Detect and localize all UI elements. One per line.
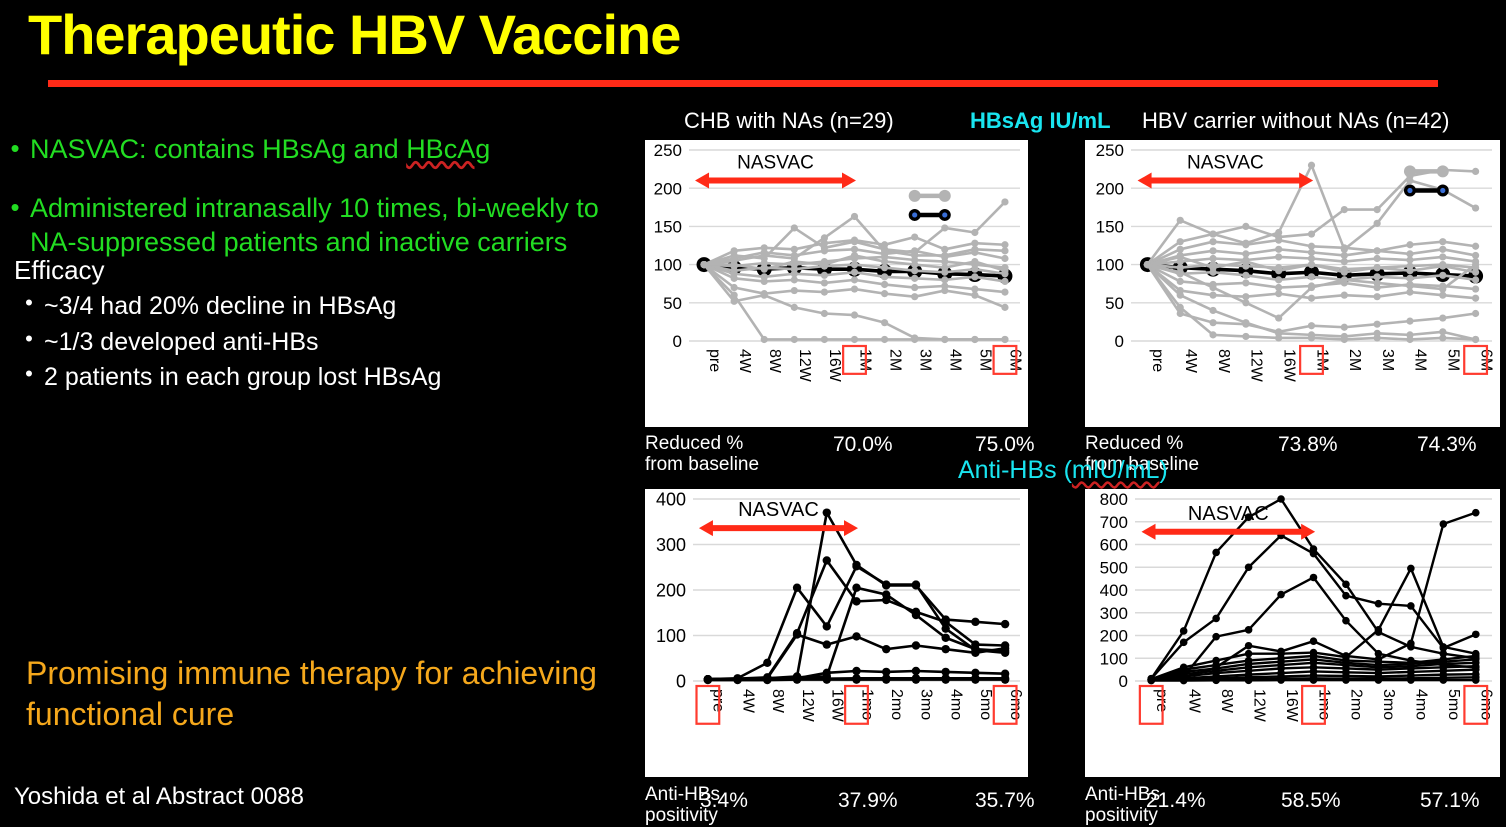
reduced-pct-left-6m: 75.0% xyxy=(975,433,1035,457)
svg-text:700: 700 xyxy=(1100,513,1128,532)
svg-text:4M: 4M xyxy=(947,349,964,371)
efficacy-heading: Efficacy xyxy=(14,255,654,286)
chart-hbsag-carrier-without-nas: 050100150200250NASVACpre4W8W12W16W1M2M3M… xyxy=(1085,140,1500,427)
svg-text:400: 400 xyxy=(1100,581,1128,600)
svg-text:4W: 4W xyxy=(739,689,756,714)
svg-text:600: 600 xyxy=(1100,536,1128,555)
page-title: Therapeutic HBV Vaccine xyxy=(28,6,680,65)
reduced-pct-right-6m: 74.3% xyxy=(1417,433,1477,457)
bullet-text-0: NASVAC: contains HBsAg and HBcAg xyxy=(30,132,490,167)
svg-text:pre: pre xyxy=(706,349,723,372)
svg-text:250: 250 xyxy=(1096,141,1124,160)
list-item: • ~3/4 had 20% decline in HBsAg xyxy=(14,290,654,323)
svg-text:3M: 3M xyxy=(1379,349,1396,371)
positivity-pct-right-6mo: 57.1% xyxy=(1420,789,1480,813)
svg-text:100: 100 xyxy=(1100,649,1128,668)
svg-text:3mo: 3mo xyxy=(918,689,935,720)
svg-text:0: 0 xyxy=(676,671,686,691)
positivity-pct-left-pre: 3.4% xyxy=(700,789,748,813)
svg-text:pre: pre xyxy=(1149,349,1166,372)
svg-text:200: 200 xyxy=(1100,627,1128,646)
svg-text:2M: 2M xyxy=(886,349,903,371)
svg-text:2mo: 2mo xyxy=(1348,689,1365,720)
reduced-label-left-line1: Reduced % xyxy=(645,433,759,454)
svg-text:4mo: 4mo xyxy=(1413,689,1430,720)
svg-text:300: 300 xyxy=(656,535,686,555)
svg-text:5M: 5M xyxy=(977,349,994,371)
svg-text:200: 200 xyxy=(1096,179,1124,198)
reduced-label-right-line1: Reduced % xyxy=(1085,433,1199,454)
svg-text:8W: 8W xyxy=(766,349,783,374)
svg-text:800: 800 xyxy=(1100,490,1128,509)
chart-header-hbsag-unit: HBsAg IU/mL xyxy=(970,108,1111,134)
chart-header-right-group: HBV carrier without NAs (n=42) xyxy=(1142,108,1450,134)
svg-text:12W: 12W xyxy=(796,349,813,383)
svg-text:NASVAC: NASVAC xyxy=(1187,153,1264,174)
svg-text:4W: 4W xyxy=(1185,689,1202,714)
positivity-pct-right-pre: 21.4% xyxy=(1146,789,1206,813)
svg-text:12W: 12W xyxy=(1248,349,1265,383)
title-underline xyxy=(48,80,1438,87)
efficacy-item-0: ~3/4 had 20% decline in HBsAg xyxy=(44,290,396,323)
svg-text:50: 50 xyxy=(1105,294,1124,313)
positivity-pct-left-1mo: 37.9% xyxy=(838,789,898,813)
svg-text:50: 50 xyxy=(663,294,682,313)
efficacy-section: Efficacy • ~3/4 had 20% decline in HBsAg… xyxy=(14,255,654,397)
reduced-pct-left-1m: 70.0% xyxy=(833,433,893,457)
svg-text:300: 300 xyxy=(1100,604,1128,623)
svg-text:4W: 4W xyxy=(1182,349,1199,374)
efficacy-item-2: 2 patients in each group lost HBsAg xyxy=(44,361,441,394)
chart-antihbs-carrier-without-nas: 0100200300400500600700800NASVACpre4W8W12… xyxy=(1085,489,1500,777)
svg-text:16W: 16W xyxy=(826,349,843,383)
list-item: • Administered intranasally 10 times, bi… xyxy=(0,191,640,260)
svg-text:NASVAC: NASVAC xyxy=(737,153,814,174)
list-item: • ~1/3 developed anti-HBs xyxy=(14,326,654,359)
svg-text:3M: 3M xyxy=(916,349,933,371)
svg-text:100: 100 xyxy=(1096,256,1124,275)
svg-text:12W: 12W xyxy=(799,689,816,723)
svg-text:3mo: 3mo xyxy=(1380,689,1397,720)
svg-text:4M: 4M xyxy=(1412,349,1429,371)
chart-header-antihbs-unit: Anti-HBs (mIU/mL) xyxy=(958,456,1168,485)
svg-text:250: 250 xyxy=(654,141,682,160)
svg-text:0: 0 xyxy=(1119,672,1128,691)
svg-text:200: 200 xyxy=(656,580,686,600)
positivity-pct-left-6mo: 35.7% xyxy=(975,789,1035,813)
svg-text:400: 400 xyxy=(656,489,686,509)
svg-text:8W: 8W xyxy=(1218,689,1235,714)
left-content-column: • NASVAC: contains HBsAg and HBcAg • Adm… xyxy=(0,132,640,266)
citation-text: Yoshida et al Abstract 0088 xyxy=(14,783,304,811)
svg-text:0: 0 xyxy=(673,332,682,351)
bullet-icon: • xyxy=(14,361,44,394)
chart-header-left-group: CHB with NAs (n=29) xyxy=(684,108,894,134)
svg-text:100: 100 xyxy=(654,256,682,275)
svg-text:2mo: 2mo xyxy=(888,689,905,720)
list-item: • NASVAC: contains HBsAg and HBcAg xyxy=(0,132,640,167)
bullet-text-1: Administered intranasally 10 times, bi-w… xyxy=(30,191,640,260)
svg-text:200: 200 xyxy=(654,179,682,198)
svg-text:16W: 16W xyxy=(1280,349,1297,383)
bullet-icon: • xyxy=(14,290,44,323)
reduced-label-left: Reduced % from baseline xyxy=(645,433,759,476)
positivity-pct-right-1mo: 58.5% xyxy=(1281,789,1341,813)
svg-text:16W: 16W xyxy=(829,689,846,723)
svg-text:8W: 8W xyxy=(1215,349,1232,374)
svg-text:NASVAC: NASVAC xyxy=(738,499,819,521)
svg-text:4W: 4W xyxy=(736,349,753,374)
efficacy-item-1: ~1/3 developed anti-HBs xyxy=(44,326,319,359)
chart-hbsag-chb-with-nas: 050100150200250NASVACpre4W8W12W16W1M2M3M… xyxy=(645,140,1028,427)
conclusion-text: Promising immune therapy for achieving f… xyxy=(26,653,626,735)
svg-text:8W: 8W xyxy=(769,689,786,714)
svg-text:100: 100 xyxy=(656,626,686,646)
reduced-label-left-line2: from baseline xyxy=(645,454,759,475)
chart-antihbs-chb-with-nas: 0100200300400NASVACpre4W8W12W16W1mo2mo3m… xyxy=(645,489,1028,777)
reduced-pct-right-1m: 73.8% xyxy=(1278,433,1338,457)
svg-text:150: 150 xyxy=(1096,218,1124,237)
list-item: • 2 patients in each group lost HBsAg xyxy=(14,361,654,394)
bullet-icon: • xyxy=(0,132,30,167)
svg-text:12W: 12W xyxy=(1250,689,1267,723)
svg-text:5mo: 5mo xyxy=(1445,689,1462,720)
svg-text:16W: 16W xyxy=(1283,689,1300,723)
svg-text:2M: 2M xyxy=(1346,349,1363,371)
svg-text:5M: 5M xyxy=(1445,349,1462,371)
svg-text:500: 500 xyxy=(1100,558,1128,577)
bullet-icon: • xyxy=(14,326,44,359)
svg-text:NASVAC: NASVAC xyxy=(1188,503,1269,525)
bullet-icon: • xyxy=(0,191,30,260)
svg-text:4mo: 4mo xyxy=(947,689,964,720)
svg-text:0: 0 xyxy=(1115,332,1124,351)
svg-text:5mo: 5mo xyxy=(977,689,994,720)
svg-text:150: 150 xyxy=(654,218,682,237)
